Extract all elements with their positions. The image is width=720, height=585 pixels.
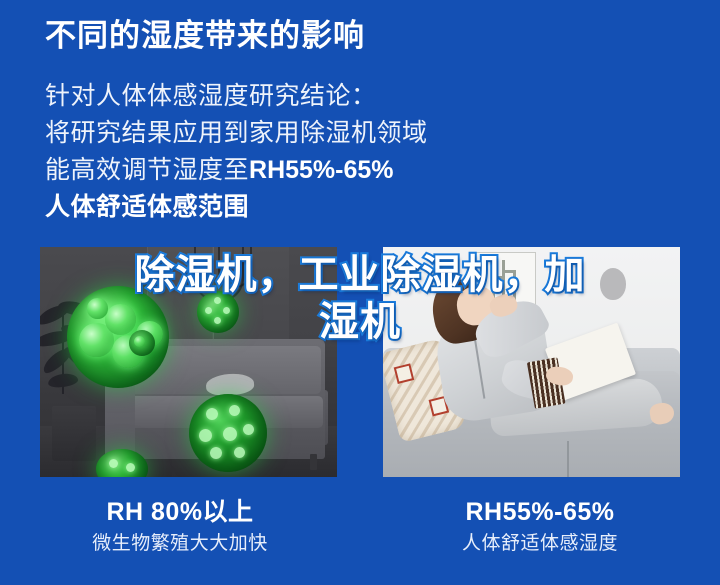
dark-sofa-leg-right [310, 454, 317, 470]
woman-reading-figure [383, 247, 680, 477]
hanging-wire-secondary-icon [218, 247, 252, 288]
caption-row: RH 80%以上 微生物繁殖大大加快 RH55%-65% 人体舒适体感湿度 [0, 496, 720, 576]
microbe-spike [214, 297, 221, 304]
plant-leaf [47, 372, 79, 389]
humidity-range-highlight: RH55%-65% [249, 156, 394, 184]
microbe-spike [199, 429, 212, 442]
woman-foot [649, 402, 676, 426]
microbe-small-icon [129, 330, 155, 356]
humidity-infographic-poster: 不同的湿度带来的影响 针对人体体感湿度研究结论： 将研究结果应用到家用除湿机领域… [0, 0, 720, 585]
intro-paragraph: 针对人体体感湿度研究结论： 将研究结果应用到家用除湿机领域 能高效调节湿度至RH… [45, 78, 428, 226]
caption-subtitle: 微生物繁殖大大加快 [0, 529, 360, 559]
microbe-spike [229, 405, 240, 416]
photo-comparison-row [0, 247, 720, 477]
caption-comfort-humidity: RH55%-65% 人体舒适体感湿度 [360, 496, 720, 576]
microbe-blob [134, 336, 145, 347]
caption-subtitle: 人体舒适体感湿度 [360, 529, 720, 559]
microbe-spike [223, 427, 237, 441]
caption-title: RH 80%以上 [0, 496, 360, 529]
microbe-spike [243, 424, 254, 435]
caption-title: RH55%-65% [360, 496, 720, 529]
caption-high-humidity: RH 80%以上 微生物繁殖大大加快 [0, 496, 360, 576]
photo-high-humidity-microbes [40, 247, 337, 477]
intro-line-3: 能高效调节湿度至RH55%-65% [45, 152, 428, 189]
intro-line-4: 人体舒适体感范围 [45, 189, 428, 226]
microbe-spike [206, 408, 218, 420]
microbe-spike [223, 307, 230, 314]
microbe-spike [109, 459, 118, 468]
microbe-blob [87, 298, 107, 318]
microbe-blob [105, 304, 136, 335]
microbe-spike [234, 447, 245, 458]
microbe-virus-icon [197, 291, 239, 333]
page-title: 不同的湿度带来的影响 [45, 16, 365, 56]
microbe-spike [205, 307, 212, 314]
microbe-spike [214, 317, 221, 324]
microbe-large-icon [189, 394, 267, 472]
microbe-spike [126, 463, 135, 472]
intro-line-2: 将研究结果应用到家用除湿机领域 [45, 115, 428, 152]
intro-line-1: 针对人体体感湿度研究结论： [45, 78, 428, 115]
intro-line-3-prefix: 能高效调节湿度至 [45, 156, 249, 184]
microbe-spike [210, 447, 222, 459]
photo-comfort-humidity-woman [383, 247, 680, 477]
